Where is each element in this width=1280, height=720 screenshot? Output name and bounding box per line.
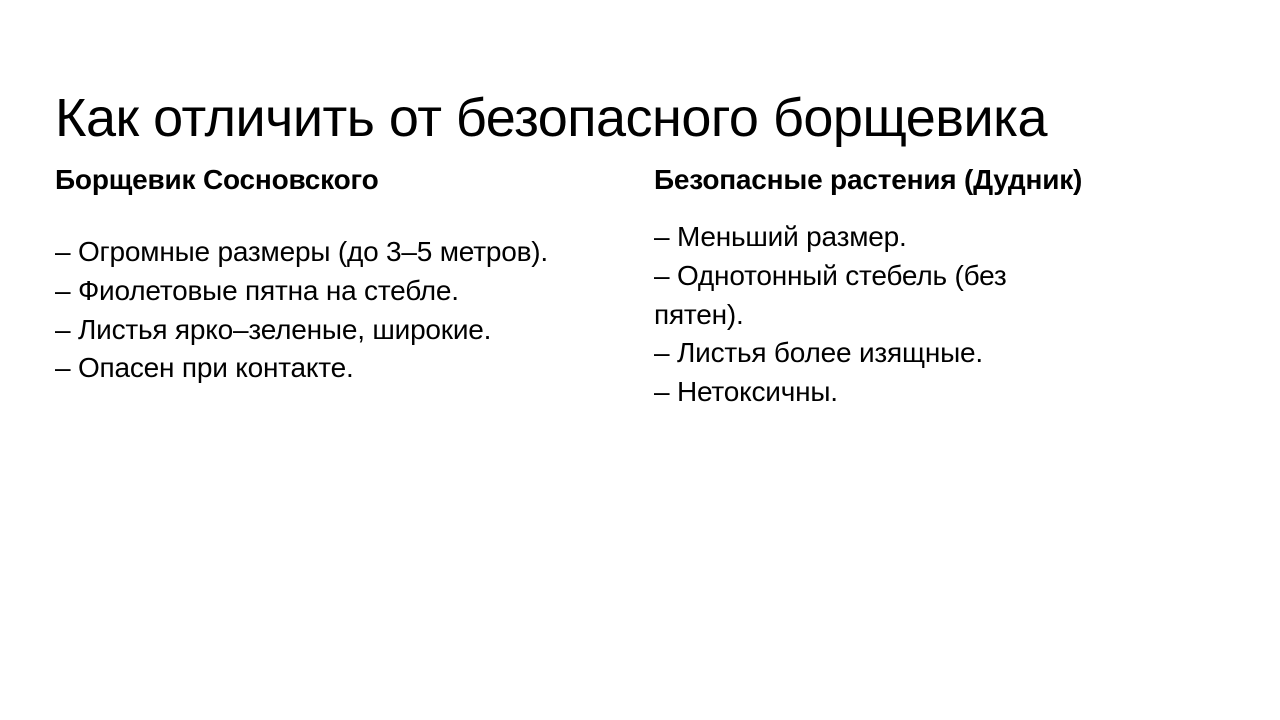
column-body-left: – Огромные размеры (до 3–5 метров). – Фи… [55, 233, 555, 388]
slide-title: Как отличить от безопасного борщевика [55, 88, 1055, 150]
column-body-right: – Меньший размер. – Однотонный стебель (… [654, 218, 1094, 411]
content-column-left: Борщевик Сосновского – Огромные размеры … [55, 158, 555, 388]
content-column-right: Безопасные растения (Дудник) – Меньший р… [654, 158, 1094, 412]
column-heading-right: Безопасные растения (Дудник) [654, 158, 1094, 201]
slide-canvas: Как отличить от безопасного борщевика Бо… [0, 0, 1280, 720]
column-heading-left: Борщевик Сосновского [55, 158, 555, 201]
